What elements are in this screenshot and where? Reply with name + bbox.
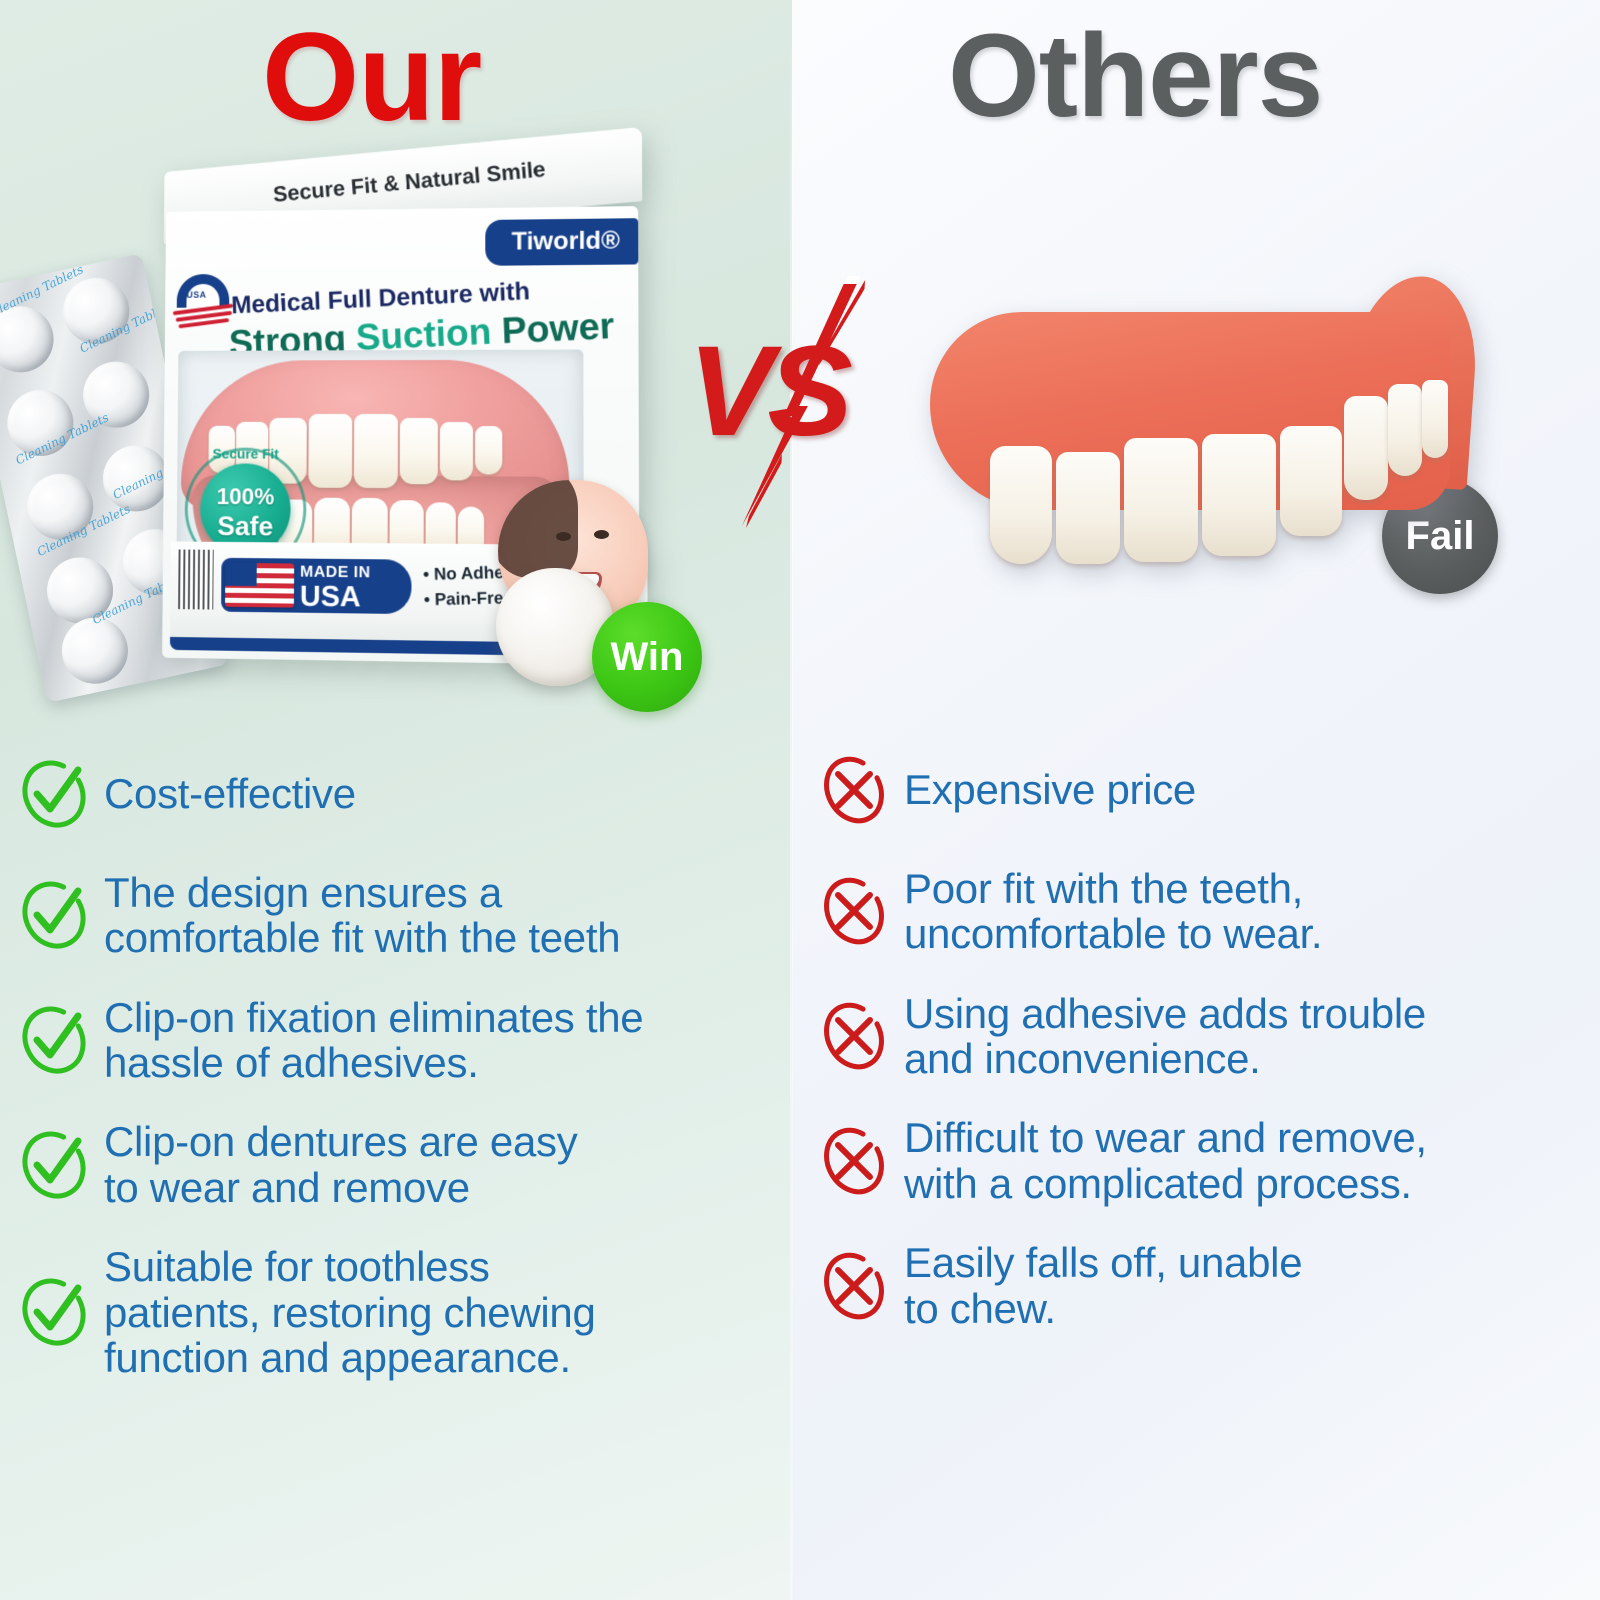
comparison-infographic: Our Others Cleaning Tablets Cleaning Tab…	[0, 0, 1600, 1600]
list-item: Poor fit with the teeth, uncomfortable t…	[818, 866, 1588, 957]
list-item: Easily falls off, unable to chew.	[818, 1240, 1588, 1331]
disadvantages-list: Expensive price Poor fit with the teeth,…	[818, 748, 1588, 1365]
list-item: Expensive price	[818, 748, 1588, 832]
cross-circle-icon	[818, 873, 890, 949]
brand-badge: Tiworld®	[485, 218, 638, 266]
check-circle-icon	[18, 877, 90, 953]
list-item: Cost-effective	[18, 752, 788, 836]
list-item-text: The design ensures a comfortable fit wit…	[104, 870, 620, 961]
competitor-veneer-image	[930, 276, 1490, 596]
cross-circle-icon	[818, 752, 890, 828]
barcode	[178, 549, 214, 609]
check-circle-icon	[18, 1127, 90, 1203]
check-circle-icon	[18, 1274, 90, 1350]
seal-safe-text: Safe	[200, 511, 290, 543]
list-item-text: Easily falls off, unable to chew.	[904, 1240, 1302, 1331]
panel-divider	[790, 0, 793, 1600]
vs-graphic: VS	[688, 276, 878, 526]
seal-arc-top-text: Secure Fit	[185, 446, 306, 462]
cross-circle-icon	[818, 998, 890, 1074]
made-in-usa-badge: MADE IN USA	[221, 558, 411, 614]
list-item: Using adhesive adds trouble and inconven…	[818, 991, 1588, 1082]
list-item: The design ensures a comfortable fit wit…	[18, 870, 788, 961]
check-circle-icon	[18, 756, 90, 832]
page-title-our: Our	[262, 6, 481, 149]
list-item-text: Clip-on fixation eliminates the hassle o…	[104, 995, 643, 1086]
list-item-text: Clip-on dentures are easy to wear and re…	[104, 1119, 577, 1210]
check-circle-icon	[18, 1002, 90, 1078]
usa-seal-text: USA	[187, 290, 207, 300]
list-item-text: Poor fit with the teeth, uncomfortable t…	[904, 866, 1322, 957]
list-item-text: Expensive price	[904, 767, 1196, 812]
made-in-label: MADE IN	[300, 565, 371, 582]
box-title-word-power: Power	[501, 305, 615, 351]
us-flag-icon	[225, 563, 294, 608]
page-title-others: Others	[948, 8, 1322, 144]
list-item-text: Using adhesive adds trouble and inconven…	[904, 991, 1426, 1082]
list-item: Clip-on fixation eliminates the hassle o…	[18, 995, 788, 1086]
advantages-list: Cost-effective The design ensures a comf…	[18, 752, 788, 1414]
seal-percent-text: 100%	[200, 483, 290, 510]
usa-quality-seal-icon: USA	[173, 272, 237, 327]
usa-label: USA	[300, 583, 371, 613]
lightning-spark-icon	[744, 454, 786, 528]
list-item-text: Difficult to wear and remove, with a com…	[904, 1115, 1427, 1206]
cross-circle-icon	[818, 1123, 890, 1199]
list-item: Difficult to wear and remove, with a com…	[818, 1115, 1588, 1206]
cross-circle-icon	[818, 1248, 890, 1324]
win-badge: Win	[592, 602, 702, 712]
list-item: Suitable for toothless patients, restori…	[18, 1244, 788, 1380]
list-item-text: Cost-effective	[104, 771, 356, 816]
list-item-text: Suitable for toothless patients, restori…	[104, 1244, 596, 1380]
list-item: Clip-on dentures are easy to wear and re…	[18, 1119, 788, 1210]
